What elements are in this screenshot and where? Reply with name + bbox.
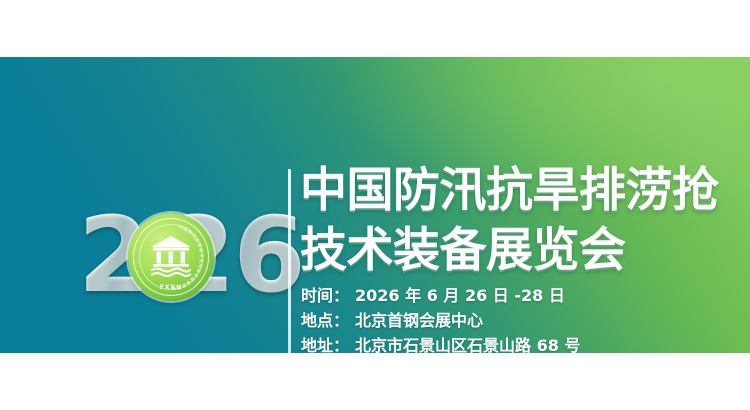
- poster-canvas: 2 26 中国防汛抗旱排涝抢险技术装备展览会: [0, 0, 750, 410]
- vertical-divider: [288, 169, 291, 353]
- event-address-value: 北京市石景山区石景山路 68 号: [355, 333, 580, 353]
- event-venue-value: 北京首钢会展中心: [355, 308, 483, 333]
- pavilion-water-icon: [146, 233, 196, 281]
- event-address-line: 地址：北京市石景山区石景山路 68 号: [301, 333, 580, 353]
- event-date-value: 2026 年 6 月 26 日 -28 日: [355, 283, 565, 308]
- event-venue-label: 地点：: [301, 308, 349, 333]
- event-info-block: 时间：2026 年 6 月 26 日 -28 日 地点：北京首钢会展中心 地址：…: [301, 283, 580, 353]
- event-title: 中国防汛抗旱排涝抢 技术装备展览会: [300, 161, 750, 281]
- event-date-label: 时间：: [301, 283, 349, 308]
- exhibition-logo-emblem: 中国防汛抗旱排涝抢险技术装备展览会 FXKH: [128, 213, 214, 301]
- emblem-abbreviation: FXKH: [128, 284, 214, 291]
- event-title-line-1: 中国防汛抗旱排涝抢: [300, 161, 750, 221]
- event-address-label: 地址：: [301, 333, 349, 353]
- event-date-line: 时间：2026 年 6 月 26 日 -28 日: [301, 283, 580, 308]
- event-venue-line: 地点：北京首钢会展中心: [301, 308, 580, 333]
- year-logo-block: 2 26 中国防汛抗旱排涝抢险技术装备展览会: [78, 207, 283, 307]
- event-banner: 2 26 中国防汛抗旱排涝抢险技术装备展览会: [0, 57, 750, 353]
- event-title-line-2: 技术装备展览会: [300, 221, 750, 281]
